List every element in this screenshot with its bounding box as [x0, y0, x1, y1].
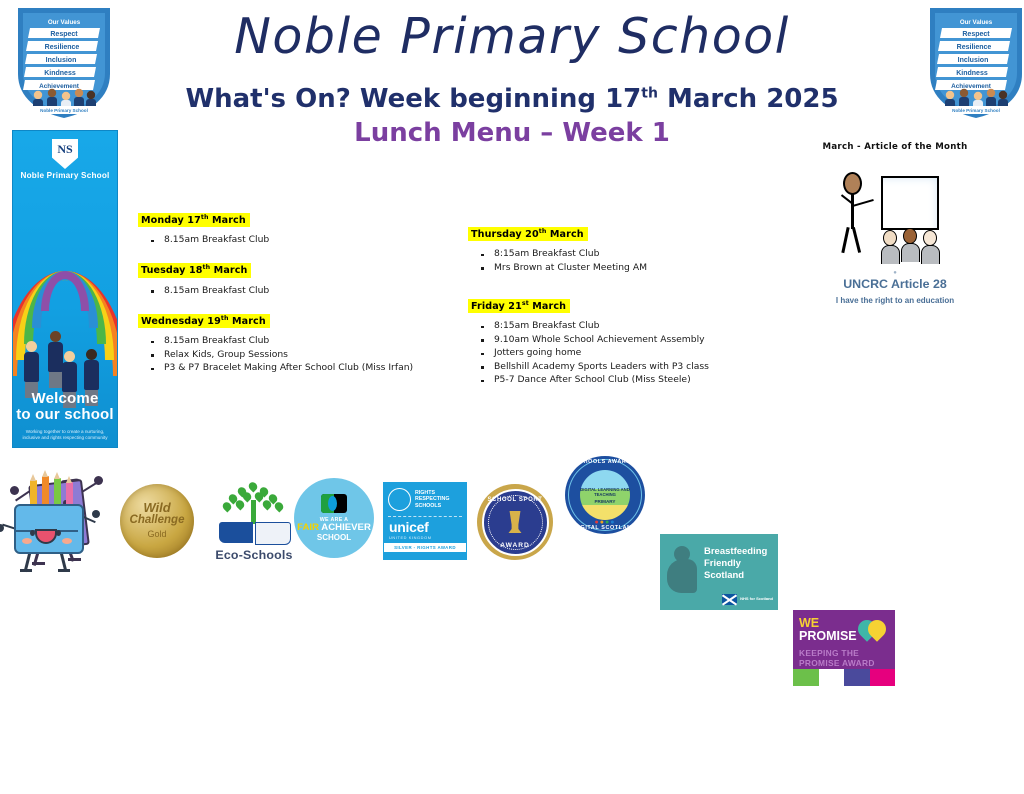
list-item: Jotters going home [468, 347, 768, 360]
banner-school-name: Noble Primary School [13, 171, 117, 180]
bfs-line-2: Friendly [704, 558, 767, 570]
digital-arc-top: SCHOOLS AWARDS [565, 459, 645, 465]
day-heading-tuesday: Tuesday 18th March [138, 263, 251, 277]
wild-line-3: Gold [147, 528, 166, 540]
unicef-rights-respecting-schools-logo-icon: RIGHTS RESPECTING SCHOOLS unicef UNITED … [383, 482, 467, 560]
digital-schools-awards-scotland-badge-icon: SCHOOLS AWARDS DIGITAL LEARNING AND TEAC… [565, 456, 645, 534]
nhs-scotland-mark: NHS for Scotland [722, 594, 773, 605]
unicef-globe-icon [388, 488, 411, 511]
day-heading-thursday: Thursday 20th March [468, 227, 588, 241]
school-shield-icon [52, 139, 78, 169]
bfs-line-3: Scotland [704, 570, 767, 582]
unicef-wordmark: unicef [384, 519, 466, 535]
day-month: March [529, 301, 566, 312]
whats-on-suffix: March 2025 [658, 84, 839, 114]
day-heading-friday: Friday 21st March [468, 299, 570, 313]
welcome-line-1: Welcome [13, 391, 117, 407]
list-item: P3 & P7 Bracelet Making After School Clu… [138, 362, 438, 375]
breastfeeding-friendly-scotland-logo-icon: Breastfeeding Friendly Scotland NHS for … [660, 534, 778, 610]
list-item: Mrs Brown at Cluster Meeting AM [468, 262, 768, 275]
promise-sub-1: KEEPING THE [799, 648, 875, 658]
pencil-case-mascot-icon [0, 698, 104, 794]
event-list-thursday: 8:15am Breakfast Club Mrs Brown at Clust… [468, 248, 768, 274]
bfs-text: Breastfeeding Friendly Scotland [704, 546, 767, 582]
svg-text:Kindness: Kindness [44, 70, 76, 77]
event-list-wednesday: 8.15am Breakfast Club Relax Kids, Group … [138, 335, 438, 375]
schedule-column-two: Thursday 20th March 8:15am Breakfast Clu… [468, 224, 768, 401]
accreditation-logo-strip: Wild Challenge Gold Eco-Schools [0, 468, 1024, 572]
unicef-award-level: SILVER - RIGHTS AWARD [384, 543, 466, 552]
rights-respecting-label: RIGHTS RESPECTING SCHOOLS [415, 490, 462, 509]
wild-line-2: Challenge [130, 514, 185, 526]
promise-we: WE [799, 617, 819, 630]
list-item: 9.10am Whole School Achievement Assembly [468, 334, 768, 347]
list-item: 8.15am Breakfast Club [138, 285, 438, 298]
svg-text:Kindness: Kindness [956, 70, 988, 77]
heart-icon [858, 620, 888, 647]
day-block-wednesday: Wednesday 19th March 8.15am Breakfast Cl… [138, 311, 438, 375]
day-ordinal: th [201, 214, 209, 221]
sport-award-bottom-text: AWARD [484, 542, 547, 549]
day-block-friday: Friday 21st March 8:15am Breakfast Club … [468, 296, 768, 387]
list-item: 8:15am Breakfast Club [468, 320, 768, 333]
day-month: March [209, 215, 246, 226]
partner-logos-strip [793, 669, 895, 686]
day-month: March [546, 229, 583, 240]
day-month: March [229, 316, 266, 327]
welcome-text: Welcome to our school [13, 391, 117, 423]
nhs-label: NHS for Scotland [740, 597, 773, 602]
day-heading-monday: Monday 17th March [138, 213, 250, 227]
day-block-thursday: Thursday 20th March 8:15am Breakfast Clu… [468, 224, 768, 274]
day-month: March [210, 266, 247, 277]
day-block-tuesday: Tuesday 18th March 8.15am Breakfast Club [138, 261, 438, 298]
welcome-banner: Noble Primary School Welcome [12, 130, 118, 448]
list-item: 8.15am Breakfast Club [138, 335, 438, 348]
teacher-figure-icon [839, 172, 873, 254]
day-ordinal: th [221, 315, 229, 322]
whats-on-ordinal: th [641, 85, 658, 101]
classroom-illustration-icon [833, 170, 957, 266]
day-label: Friday 21 [471, 301, 522, 312]
day-block-monday: Monday 17th March 8.15am Breakfast Club [138, 210, 438, 247]
sport-award-top-text: SCHOOL SPORT [484, 497, 547, 503]
day-label: Wednesday 19 [141, 316, 221, 327]
banner-tagline: Working together to create a nurturing, … [17, 429, 113, 441]
promise-subtitle: KEEPING THE PROMISE AWARD [799, 648, 875, 668]
list-item: P5-7 Dance After School Club (Miss Steel… [468, 374, 768, 387]
schedule-column-one: Monday 17th March 8.15am Breakfast Club … [138, 210, 438, 389]
fairtrade-mark-icon [321, 494, 347, 513]
eco-schools-logo-icon: Eco-Schools [208, 482, 300, 562]
fair-line-2: FAIR ACHIEVER [297, 523, 371, 533]
whats-on-subtitle: What's On? Week beginning 17th March 202… [0, 84, 1024, 114]
fair-line-2b: ACHIEVER [321, 522, 371, 533]
article-number: UNCRC Article 28 [795, 277, 995, 291]
mother-and-baby-icon [667, 546, 699, 596]
list-item: 8.15am Breakfast Club [138, 234, 438, 247]
article-of-the-month-panel: March - Article of the Month ● UNCRC Art… [795, 142, 995, 305]
digital-arc-bottom: DIGITAL SCOTLAND [565, 525, 645, 531]
event-list-tuesday: 8.15am Breakfast Club [138, 285, 438, 298]
whats-on-poster: Our Values Respect Resilience Inclusion … [0, 0, 1024, 576]
saltire-icon [722, 594, 737, 605]
fair-line-3: SCHOOL [317, 533, 351, 543]
fair-achiever-school-badge-icon: WE ARE A FAIR ACHIEVER SCHOOL [294, 478, 374, 558]
wild-challenge-gold-badge-icon: Wild Challenge Gold [120, 484, 194, 558]
article-heading: March - Article of the Month [795, 142, 995, 152]
day-label: Monday 17 [141, 215, 201, 226]
day-label: Tuesday 18 [141, 266, 203, 277]
event-list-friday: 8:15am Breakfast Club 9.10am Whole Schoo… [468, 320, 768, 387]
eco-schools-label: Eco-Schools [208, 548, 300, 562]
fair-line-2a: FAIR [297, 522, 321, 533]
page-title: Noble Primary School [0, 8, 1024, 65]
day-label: Thursday 20 [471, 229, 539, 240]
whiteboard-icon [881, 176, 939, 230]
school-sport-award-badge-icon: SCHOOL SPORT AWARD [477, 484, 553, 560]
promise-word: PROMISE [799, 630, 857, 643]
list-item: Bellshill Academy Sports Leaders with P3… [468, 361, 768, 374]
list-item: 8:15am Breakfast Club [468, 248, 768, 261]
event-list-monday: 8.15am Breakfast Club [138, 234, 438, 247]
whats-on-prefix: What's On? Week beginning 17 [185, 84, 641, 114]
we-promise-keeping-the-promise-award-logo-icon: WE PROMISE KEEPING THE PROMISE AWARD [793, 610, 895, 686]
welcome-line-2: to our school [13, 407, 117, 423]
article-description: I have the right to an education [795, 296, 995, 305]
divider [388, 516, 462, 517]
bfs-line-1: Breastfeeding [704, 546, 767, 558]
pupils-figures-icon [881, 228, 939, 264]
promise-sub-2: PROMISE AWARD [799, 658, 875, 668]
day-ordinal: st [522, 300, 529, 307]
wild-line-1: Wild [143, 502, 170, 514]
article-divider-dot: ● [795, 270, 995, 276]
list-item: Relax Kids, Group Sessions [138, 349, 438, 362]
unicef-country: UNITED KINGDOM [384, 535, 466, 540]
day-heading-wednesday: Wednesday 19th March [138, 314, 270, 328]
